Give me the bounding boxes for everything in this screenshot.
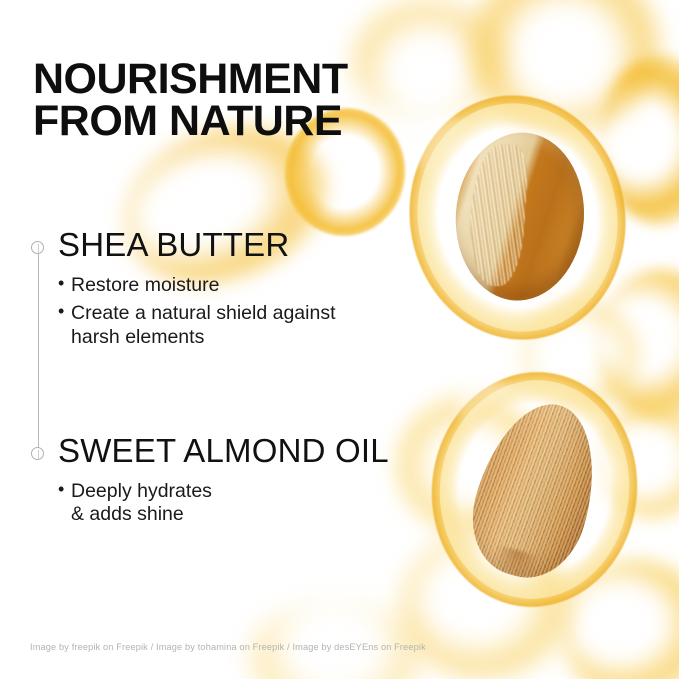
list-item: Deeply hydrates & adds shine bbox=[58, 480, 458, 528]
shea-nut-texture bbox=[466, 143, 529, 288]
list-item: Restore moisture bbox=[58, 274, 458, 298]
section-shea-butter: SHEA BUTTER Restore moisture Create a na… bbox=[58, 228, 458, 355]
section-heading-sweet-almond-oil: SWEET ALMOND OIL bbox=[58, 434, 458, 468]
page-title: NOURISHMENT FROM NATURE bbox=[33, 59, 348, 142]
timeline-marker-shea-butter bbox=[31, 241, 44, 254]
footer-credits: Image by freepik on Freepik / Image by t… bbox=[30, 642, 426, 652]
timeline-connector-line bbox=[38, 247, 39, 454]
bullet-list-sweet-almond-oil: Deeply hydrates & adds shine bbox=[58, 480, 458, 528]
infographic-canvas: NOURISHMENT FROM NATURE SHEA BUTTER Rest… bbox=[0, 0, 679, 679]
bullet-list-shea-butter: Restore moisture Create a natural shield… bbox=[58, 274, 458, 350]
list-item: Create a natural shield against harsh el… bbox=[58, 302, 458, 350]
oil-droplet-blur-10 bbox=[250, 600, 420, 679]
section-heading-shea-butter: SHEA BUTTER bbox=[58, 228, 458, 262]
section-sweet-almond-oil: SWEET ALMOND OIL Deeply hydrates & adds … bbox=[58, 434, 458, 532]
timeline-marker-sweet-almond-oil bbox=[31, 447, 44, 460]
